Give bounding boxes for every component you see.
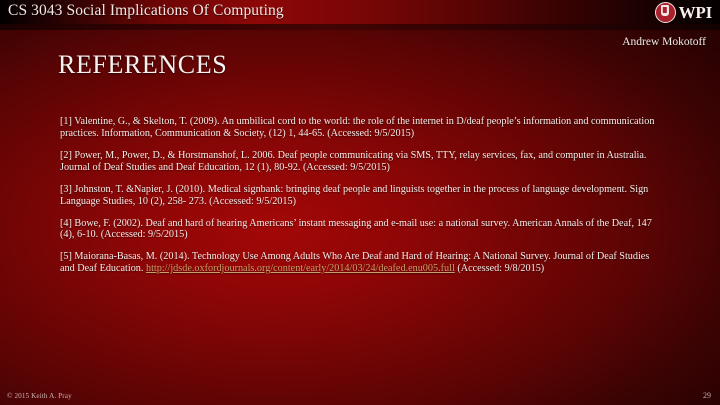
reference-5-url-link[interactable]: http://jdsde.oxfordjournals.org/content/… xyxy=(146,263,455,274)
reference-5-text-after: (Accessed: 9/8/2015) xyxy=(455,263,544,274)
wpi-logo: WPI xyxy=(655,1,712,23)
header-divider xyxy=(0,24,720,30)
footer-page-number: 29 xyxy=(703,391,711,400)
reference-item-2: [2] Power, M., Power, D., & Horstmanshof… xyxy=(60,150,665,174)
page-title: REFERENCES xyxy=(58,50,227,80)
footer-copyright: © 2015 Keith A. Pray xyxy=(7,392,72,400)
author-name: Andrew Mokotoff xyxy=(622,36,706,48)
slide-canvas: CS 3043 Social Implications Of Computing… xyxy=(0,0,720,405)
course-title: CS 3043 Social Implications Of Computing xyxy=(8,2,284,20)
wpi-seal-icon xyxy=(655,2,676,23)
reference-item-5: [5] Maiorana-Basas, M. (2014). Technolog… xyxy=(60,251,665,275)
reference-item-3: [3] Johnston, T. &Napier, J. (2010). Med… xyxy=(60,184,665,208)
wpi-wordmark: WPI xyxy=(679,4,712,21)
references-list: [1] Valentine, G., & Skelton, T. (2009).… xyxy=(60,106,665,275)
reference-item-1: [1] Valentine, G., & Skelton, T. (2009).… xyxy=(60,116,665,140)
reference-item-4: [4] Bowe, F. (2002). Deaf and hard of he… xyxy=(60,218,665,242)
